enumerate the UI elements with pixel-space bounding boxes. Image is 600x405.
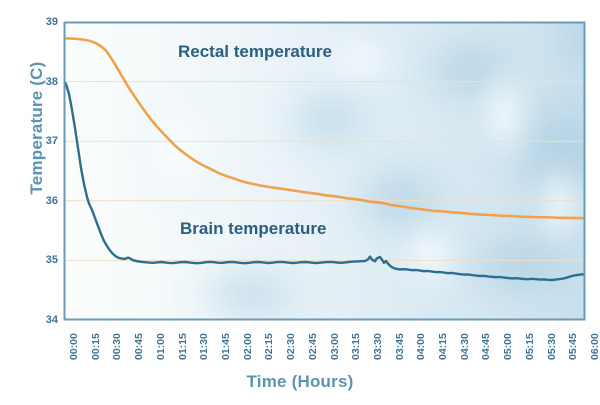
series-annotation-brain-temperature: Brain temperature <box>180 219 326 239</box>
x-axis-tick-label: 01:15 <box>177 333 189 360</box>
x-axis-tick-label: 05:45 <box>567 333 579 360</box>
x-axis-tick-label: 00:15 <box>90 333 102 360</box>
x-axis-tick-label: 05:15 <box>524 333 536 360</box>
x-axis-tick-label: 02:00 <box>242 333 254 360</box>
x-axis-tick-label: 05:00 <box>502 333 514 360</box>
x-axis-tick-label: 02:15 <box>263 333 275 360</box>
x-axis-tick-label: 04:00 <box>415 333 427 360</box>
x-axis-tick-label: 04:45 <box>480 333 492 360</box>
x-axis-tick-label: 03:15 <box>350 333 362 360</box>
x-axis-title: Time (Hours) <box>0 372 600 392</box>
x-axis-tick-label: 03:00 <box>329 333 341 360</box>
x-axis-tick-label: 00:30 <box>111 333 123 360</box>
x-axis-tick-label: 02:30 <box>285 333 297 360</box>
x-axis-tick-label: 01:00 <box>155 333 167 360</box>
x-axis-tick-label: 01:30 <box>198 333 210 360</box>
x-axis-tick-label: 05:30 <box>546 333 558 360</box>
x-axis-tick-label: 06:00 <box>589 333 600 360</box>
x-axis-tick-label: 00:45 <box>133 333 145 360</box>
x-axis-tick-label: 01:45 <box>220 333 232 360</box>
x-axis-tick-label: 04:15 <box>437 333 449 360</box>
x-axis-tick-label: 00:00 <box>68 333 80 360</box>
temperature-chart-figure: 343536373839 00:0000:1500:3000:4501:0001… <box>0 0 600 400</box>
x-axis-tick-label: 02:45 <box>307 333 319 360</box>
series-annotation-rectal-temperature: Rectal temperature <box>178 42 332 62</box>
x-axis-tick-label: 03:30 <box>372 333 384 360</box>
x-axis-tick-label: 03:45 <box>394 333 406 360</box>
x-axis-tick-label: 04:30 <box>459 333 471 360</box>
y-axis-title: Temperature (C) <box>27 33 47 223</box>
